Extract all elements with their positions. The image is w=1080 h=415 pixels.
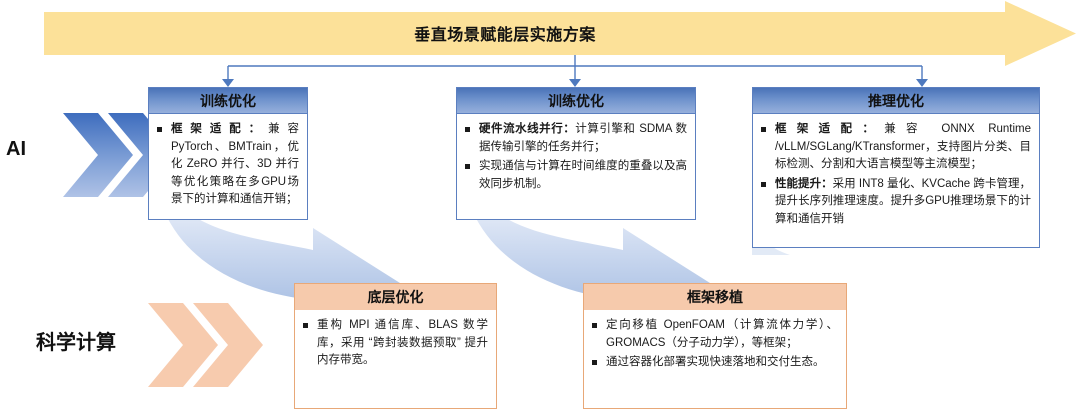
card-training-optimization-1[interactable]: 训练优化 框架适配：兼容PyTorch、BMTrain，优化 ZeRO 并行、3… bbox=[148, 87, 308, 220]
card-title: 底层优化 bbox=[295, 284, 496, 310]
list-item: 性能提升：采用 INT8 量化、KVCache 跨卡管理，提升长序列推理速度。提… bbox=[761, 176, 1031, 229]
list-item: 框架适配：兼容PyTorch、BMTrain，优化 ZeRO 并行、3D 并行等… bbox=[157, 121, 299, 209]
card-body: 重构 MPI 通信库、BLAS 数学库，采用 “跨封装数据预取” 提升内存带宽。 bbox=[295, 310, 496, 408]
list-item: 框架适配：兼容 ONNX Runtime /vLLM/SGLang/KTrans… bbox=[761, 121, 1031, 174]
bullet-text: 实现通信与计算在时间维度的重叠以及高效同步机制。 bbox=[479, 160, 687, 190]
card-framework-porting[interactable]: 框架移植 定向移植 OpenFOAM（计算流体力学）、GROMACS（分子动力学… bbox=[583, 283, 847, 409]
tree-connector-icon bbox=[228, 55, 922, 80]
bullet-text: 通过容器化部署实现快速落地和交付生态。 bbox=[606, 356, 825, 368]
banner-title: 垂直场景赋能层实施方案 bbox=[0, 16, 1010, 50]
bullet-text: 定向移植 OpenFOAM（计算流体力学）、GROMACS（分子动力学），等框架… bbox=[606, 319, 838, 349]
bullet-list: 定向移植 OpenFOAM（计算流体力学）、GROMACS（分子动力学），等框架… bbox=[592, 317, 838, 372]
bullet-list: 框架适配：兼容PyTorch、BMTrain，优化 ZeRO 并行、3D 并行等… bbox=[157, 121, 299, 209]
card-low-level-optimization[interactable]: 底层优化 重构 MPI 通信库、BLAS 数学库，采用 “跨封装数据预取” 提升… bbox=[294, 283, 497, 409]
bullet-text: 重构 MPI 通信库、BLAS 数学库，采用 “跨封装数据预取” 提升内存带宽。 bbox=[317, 319, 488, 366]
card-title: 训练优化 bbox=[149, 88, 307, 114]
tree-connector-arrowheads-icon bbox=[222, 79, 928, 87]
rail-label-science: 科学计算 bbox=[36, 326, 176, 355]
bullet-sep: ： bbox=[563, 123, 575, 135]
list-item: 实现通信与计算在时间维度的重叠以及高效同步机制。 bbox=[465, 158, 687, 193]
card-body: 框架适配：兼容PyTorch、BMTrain，优化 ZeRO 并行、3D 并行等… bbox=[149, 114, 307, 219]
bullet-text: 兼容PyTorch、BMTrain，优化 ZeRO 并行、3D 并行等优化策略在… bbox=[171, 123, 299, 205]
bullet-square-icon bbox=[761, 182, 766, 187]
bullet-list: 硬件流水线并行：计算引擎和 SDMA 数据传输引擎的任务并行； 实现通信与计算在… bbox=[465, 121, 687, 193]
card-inference-optimization[interactable]: 推理优化 框架适配：兼容 ONNX Runtime /vLLM/SGLang/K… bbox=[752, 87, 1040, 248]
card-body: 硬件流水线并行：计算引擎和 SDMA 数据传输引擎的任务并行； 实现通信与计算在… bbox=[457, 114, 695, 219]
list-item: 硬件流水线并行：计算引擎和 SDMA 数据传输引擎的任务并行； bbox=[465, 121, 687, 156]
bullet-lead: 硬件流水线并行 bbox=[479, 123, 563, 135]
bullet-square-icon bbox=[592, 360, 597, 365]
card-title: 训练优化 bbox=[457, 88, 695, 114]
diagram-canvas: 垂直场景赋能层实施方案 AI 科学计算 训练优化 框架适配：兼容PyTorch、… bbox=[0, 0, 1080, 415]
bullet-sep: ： bbox=[249, 123, 268, 135]
list-item: 重构 MPI 通信库、BLAS 数学库，采用 “跨封装数据预取” 提升内存带宽。 bbox=[303, 317, 488, 370]
bullet-square-icon bbox=[303, 323, 308, 328]
bullet-list: 重构 MPI 通信库、BLAS 数学库，采用 “跨封装数据预取” 提升内存带宽。 bbox=[303, 317, 488, 370]
card-body: 定向移植 OpenFOAM（计算流体力学）、GROMACS（分子动力学），等框架… bbox=[584, 310, 846, 408]
card-title: 框架移植 bbox=[584, 284, 846, 310]
list-item: 通过容器化部署实现快速落地和交付生态。 bbox=[592, 354, 838, 372]
bullet-square-icon bbox=[465, 164, 470, 169]
rail-label-ai: AI bbox=[6, 138, 58, 161]
bullet-square-icon bbox=[592, 323, 597, 328]
bullet-sep: ： bbox=[862, 123, 884, 135]
bullet-sep: ： bbox=[821, 178, 833, 190]
card-body: 框架适配：兼容 ONNX Runtime /vLLM/SGLang/KTrans… bbox=[753, 114, 1039, 247]
bullet-square-icon bbox=[157, 127, 162, 132]
bullet-list: 框架适配：兼容 ONNX Runtime /vLLM/SGLang/KTrans… bbox=[761, 121, 1031, 228]
bullet-square-icon bbox=[465, 127, 470, 132]
bullet-lead: 性能提升 bbox=[775, 178, 821, 190]
bullet-lead: 框架适配 bbox=[171, 123, 249, 135]
bullet-lead: 框架适配 bbox=[775, 123, 862, 135]
card-training-optimization-2[interactable]: 训练优化 硬件流水线并行：计算引擎和 SDMA 数据传输引擎的任务并行； 实现通… bbox=[456, 87, 696, 220]
bullet-square-icon bbox=[761, 127, 766, 132]
list-item: 定向移植 OpenFOAM（计算流体力学）、GROMACS（分子动力学），等框架… bbox=[592, 317, 838, 352]
card-title: 推理优化 bbox=[753, 88, 1039, 114]
